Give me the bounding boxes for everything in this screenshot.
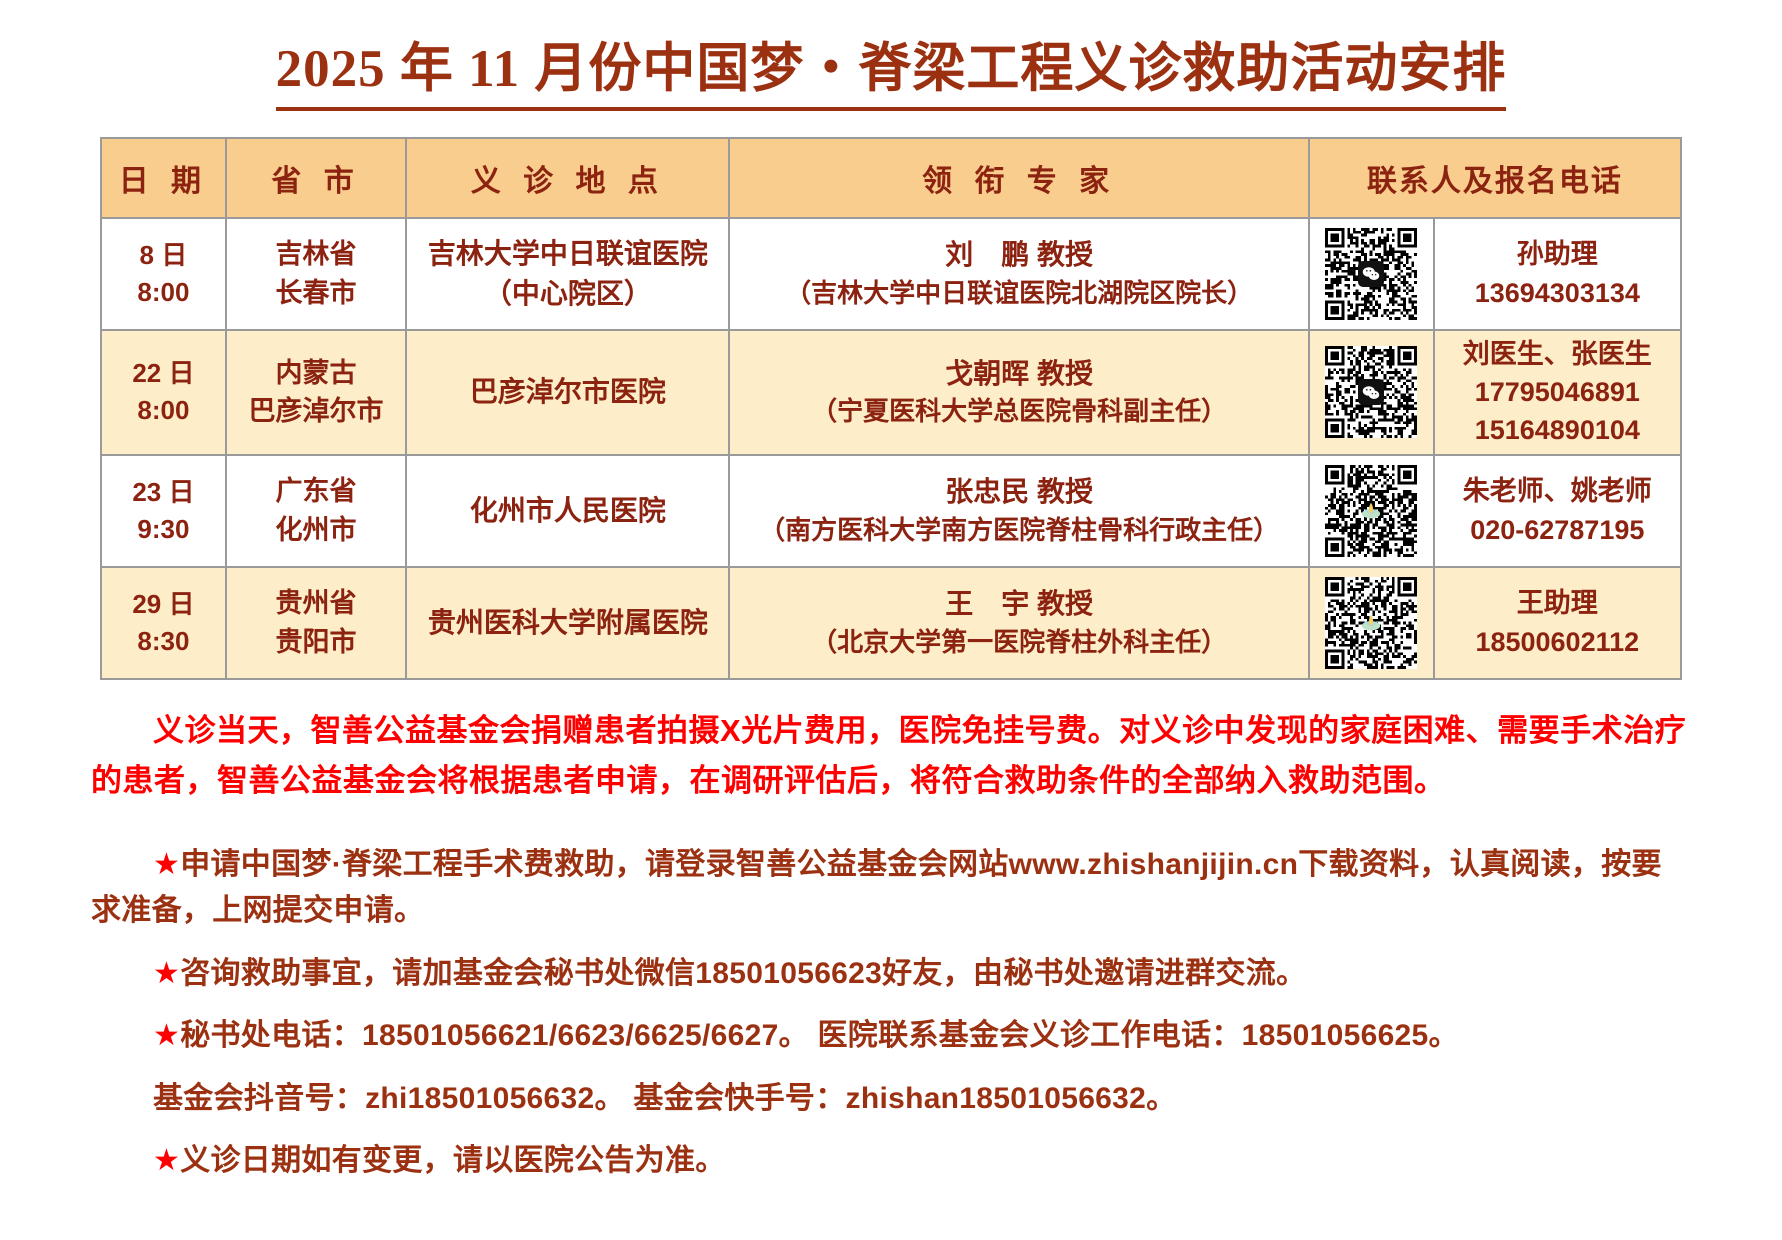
donation-notice-paragraph: 义诊当天，智善公益基金会捐赠患者拍摄X光片费用，医院免挂号费。对义诊中发现的家庭… <box>91 706 1691 806</box>
cell-expert: 张忠民 教授 （南方医科大学南方医院脊柱骨科行政主任） <box>729 455 1308 567</box>
contact-phone: 13694303134 <box>1439 274 1676 312</box>
province-name: 广东省 <box>231 472 402 510</box>
cell-contact: 刘医生、张医生 17795046891 15164890104 <box>1434 330 1681 455</box>
cell-qr <box>1309 455 1434 567</box>
expert-name: 王 宇 教授 <box>734 584 1303 624</box>
cell-place: 化州市人民医院 <box>406 455 729 567</box>
cell-date: 8 日 8:00 <box>101 218 226 330</box>
date-time: 8:00 <box>106 274 221 311</box>
cell-contact: 王助理 18500602112 <box>1434 567 1681 679</box>
bullet-list: ★申请中国梦·脊梁工程手术费救助，请登录智善公益基金会网站www.zhishan… <box>91 842 1691 1185</box>
contact-phone: 17795046891 <box>1439 373 1676 411</box>
star-icon: ★ <box>153 1019 180 1052</box>
bullet-text: 秘书处电话：18501056621/6623/6625/6627。 医院联系基金… <box>180 1019 1459 1052</box>
contact-name: 孙助理 <box>1439 235 1676 273</box>
column-header-contact: 联系人及报名电话 <box>1309 138 1681 218</box>
place-name: 巴彦淖尔市医院 <box>411 372 724 412</box>
cell-province: 吉林省 长春市 <box>226 218 407 330</box>
bullet-text: 基金会抖音号：zhi18501056632。 基金会快手号：zhishan185… <box>153 1082 1176 1115</box>
date-time: 8:00 <box>106 392 221 429</box>
city-name: 贵阳市 <box>231 623 402 661</box>
cell-date: 29 日 8:30 <box>101 567 226 679</box>
place-name: 化州市人民医院 <box>411 491 724 531</box>
wechat-qr-code-icon[interactable] <box>1325 228 1417 320</box>
contact-phone: 18500602112 <box>1439 623 1676 661</box>
province-name: 吉林省 <box>231 235 402 273</box>
cell-contact: 孙助理 13694303134 <box>1434 218 1681 330</box>
poster-page: 2025 年 11 月份中国梦・脊梁工程义诊救助活动安排 日 期 省 市 义 诊… <box>0 0 1782 1240</box>
table-body: 8 日 8:00 吉林省 长春市 吉林大学中日联谊医院 （中心院区） 刘 鹏 教… <box>101 218 1681 679</box>
cell-place: 吉林大学中日联谊医院 （中心院区） <box>406 218 729 330</box>
cell-qr <box>1309 330 1434 455</box>
province-name: 内蒙古 <box>231 354 402 392</box>
expert-name: 戈朝晖 教授 <box>734 354 1303 394</box>
wechat-logo-icon <box>1358 261 1384 287</box>
cell-date: 22 日 8:00 <box>101 330 226 455</box>
column-header-date: 日 期 <box>101 138 226 218</box>
cell-contact: 朱老师、姚老师 020-62787195 <box>1434 455 1681 567</box>
contact-phone-alt: 15164890104 <box>1439 411 1676 449</box>
city-name: 长春市 <box>231 274 402 312</box>
place-name: 吉林大学中日联谊医院 <box>411 234 724 274</box>
notes-section: 义诊当天，智善公益基金会捐赠患者拍摄X光片费用，医院免挂号费。对义诊中发现的家庭… <box>91 706 1691 1185</box>
table-row: 22 日 8:00 内蒙古 巴彦淖尔市 巴彦淖尔市医院 戈朝晖 教授 （宁夏医科… <box>101 330 1681 455</box>
place-branch: （中心院区） <box>411 274 724 314</box>
star-icon: ★ <box>153 1144 180 1177</box>
date-day: 29 日 <box>106 586 221 623</box>
expert-affiliation: （吉林大学中日联谊医院北湖院区院长） <box>734 275 1303 312</box>
place-name: 贵州医科大学附属医院 <box>411 603 724 643</box>
cell-place: 贵州医科大学附属医院 <box>406 567 729 679</box>
lotus-qr-code-icon[interactable] <box>1325 465 1417 557</box>
expert-name: 张忠民 教授 <box>734 472 1303 512</box>
table-header: 日 期 省 市 义 诊 地 点 领 衔 专 家 联系人及报名电话 <box>101 138 1681 218</box>
bullet-text: 义诊日期如有变更，请以医院公告为准。 <box>180 1144 725 1177</box>
expert-name: 刘 鹏 教授 <box>734 235 1303 275</box>
star-icon: ★ <box>153 848 180 881</box>
bullet-text: 咨询救助事宜，请加基金会秘书处微信18501056623好友，由秘书处邀请进群交… <box>180 957 1306 990</box>
bullet-item-secretariat-phone: ★秘书处电话：18501056621/6623/6625/6627。 医院联系基… <box>91 1013 1691 1060</box>
contact-name: 刘医生、张医生 <box>1439 335 1676 373</box>
date-day: 22 日 <box>106 355 221 392</box>
contact-name: 王助理 <box>1439 584 1676 622</box>
lotus-logo-icon <box>1358 498 1384 524</box>
expert-affiliation: （宁夏医科大学总医院骨科副主任） <box>734 393 1303 430</box>
date-time: 8:30 <box>106 623 221 660</box>
table-row: 8 日 8:00 吉林省 长春市 吉林大学中日联谊医院 （中心院区） 刘 鹏 教… <box>101 218 1681 330</box>
lotus-logo-icon <box>1358 610 1384 636</box>
schedule-table-container: 日 期 省 市 义 诊 地 点 领 衔 专 家 联系人及报名电话 8 日 8:0… <box>100 137 1682 680</box>
date-time: 9:30 <box>106 511 221 548</box>
cell-date: 23 日 9:30 <box>101 455 226 567</box>
cell-province: 贵州省 贵阳市 <box>226 567 407 679</box>
contact-phone: 020-62787195 <box>1439 511 1676 549</box>
contact-name: 朱老师、姚老师 <box>1439 472 1676 510</box>
expert-affiliation: （南方医科大学南方医院脊柱骨科行政主任） <box>734 512 1303 549</box>
date-day: 8 日 <box>106 237 221 274</box>
city-name: 巴彦淖尔市 <box>231 392 402 430</box>
bullet-text: 申请中国梦·脊梁工程手术费救助，请登录智善公益基金会网站www.zhishanj… <box>91 848 1662 928</box>
column-header-province: 省 市 <box>226 138 407 218</box>
cell-expert: 王 宇 教授 （北京大学第一医院脊柱外科主任） <box>729 567 1308 679</box>
table-row: 29 日 8:30 贵州省 贵阳市 贵州医科大学附属医院 王 宇 教授 （北京大… <box>101 567 1681 679</box>
cell-expert: 刘 鹏 教授 （吉林大学中日联谊医院北湖院区院长） <box>729 218 1308 330</box>
cell-expert: 戈朝晖 教授 （宁夏医科大学总医院骨科副主任） <box>729 330 1308 455</box>
cell-province: 广东省 化州市 <box>226 455 407 567</box>
column-header-place: 义 诊 地 点 <box>406 138 729 218</box>
bullet-item-social-accounts: 基金会抖音号：zhi18501056632。 基金会快手号：zhishan185… <box>91 1076 1691 1123</box>
date-day: 23 日 <box>106 474 221 511</box>
bullet-item-consult: ★咨询救助事宜，请加基金会秘书处微信18501056623好友，由秘书处邀请进群… <box>91 951 1691 998</box>
star-icon: ★ <box>153 957 180 990</box>
wechat-logo-icon <box>1358 379 1384 405</box>
bullet-item-apply: ★申请中国梦·脊梁工程手术费救助，请登录智善公益基金会网站www.zhishan… <box>91 842 1691 935</box>
cell-place: 巴彦淖尔市医院 <box>406 330 729 455</box>
table-header-row: 日 期 省 市 义 诊 地 点 领 衔 专 家 联系人及报名电话 <box>101 138 1681 218</box>
column-header-expert: 领 衔 专 家 <box>729 138 1308 218</box>
cell-qr <box>1309 567 1434 679</box>
title-container: 2025 年 11 月份中国梦・脊梁工程义诊救助活动安排 <box>0 0 1782 111</box>
lotus-qr-code-icon[interactable] <box>1325 577 1417 669</box>
expert-affiliation: （北京大学第一医院脊柱外科主任） <box>734 624 1303 661</box>
city-name: 化州市 <box>231 511 402 549</box>
table-row: 23 日 9:30 广东省 化州市 化州市人民医院 张忠民 教授 （南方医科大学… <box>101 455 1681 567</box>
cell-province: 内蒙古 巴彦淖尔市 <box>226 330 407 455</box>
province-name: 贵州省 <box>231 584 402 622</box>
cell-qr <box>1309 218 1434 330</box>
wechat-qr-code-icon[interactable] <box>1325 346 1417 438</box>
bullet-item-date-change: ★义诊日期如有变更，请以医院公告为准。 <box>91 1138 1691 1185</box>
schedule-table: 日 期 省 市 义 诊 地 点 领 衔 专 家 联系人及报名电话 8 日 8:0… <box>100 137 1682 680</box>
page-title: 2025 年 11 月份中国梦・脊梁工程义诊救助活动安排 <box>276 38 1507 111</box>
